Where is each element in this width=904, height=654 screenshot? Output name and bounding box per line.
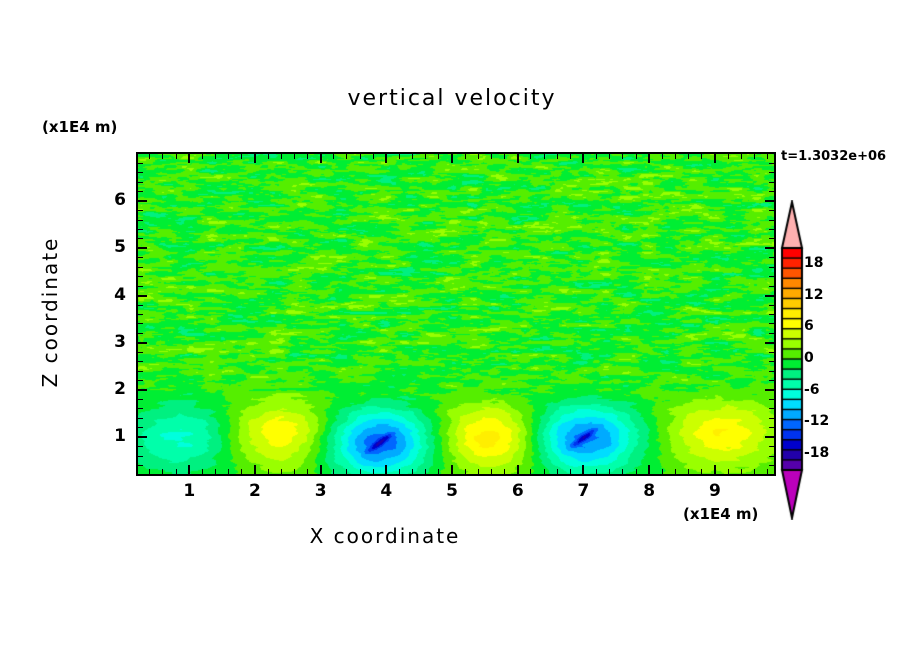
y-major-tick-right bbox=[765, 342, 774, 344]
x-minor-tick bbox=[570, 469, 571, 474]
x-minor-tick-top bbox=[162, 154, 163, 159]
x-minor-tick-top bbox=[609, 154, 610, 159]
x-minor-tick-top bbox=[741, 154, 742, 159]
y-minor-tick bbox=[138, 361, 143, 362]
x-minor-tick bbox=[741, 469, 742, 474]
y-minor-tick bbox=[138, 314, 143, 315]
contour-field-canvas bbox=[138, 154, 774, 474]
x-tick-label: 9 bbox=[700, 481, 730, 501]
x-major-tick-top bbox=[451, 154, 453, 163]
y-minor-tick bbox=[138, 276, 143, 277]
x-minor-tick bbox=[438, 469, 439, 474]
y-minor-tick-right bbox=[769, 456, 774, 457]
x-major-tick bbox=[385, 465, 387, 474]
x-minor-tick bbox=[544, 469, 545, 474]
y-major-tick bbox=[138, 436, 147, 438]
x-minor-tick-top bbox=[307, 154, 308, 159]
y-tick-label: 5 bbox=[98, 237, 126, 257]
y-minor-tick bbox=[138, 456, 143, 457]
x-minor-tick bbox=[268, 469, 269, 474]
y-minor-tick-right bbox=[769, 352, 774, 353]
x-minor-tick-top bbox=[425, 154, 426, 159]
x-minor-tick-top bbox=[557, 154, 558, 159]
y-minor-tick bbox=[138, 446, 143, 447]
x-minor-tick bbox=[675, 469, 676, 474]
y-minor-tick-right bbox=[769, 465, 774, 466]
y-tick-label: 6 bbox=[98, 190, 126, 210]
y-minor-tick bbox=[138, 257, 143, 258]
x-minor-tick bbox=[307, 469, 308, 474]
x-minor-tick-top bbox=[767, 154, 768, 159]
x-major-tick-top bbox=[320, 154, 322, 163]
x-major-tick-top bbox=[582, 154, 584, 163]
y-minor-tick bbox=[138, 408, 143, 409]
x-minor-tick-top bbox=[662, 154, 663, 159]
x-minor-tick bbox=[622, 469, 623, 474]
y-minor-tick bbox=[138, 333, 143, 334]
x-minor-tick bbox=[215, 469, 216, 474]
colorbar-tick-label: 18 bbox=[804, 255, 823, 271]
y-minor-tick bbox=[138, 182, 143, 183]
y-minor-tick-right bbox=[769, 371, 774, 372]
x-minor-tick bbox=[557, 469, 558, 474]
x-minor-tick-top bbox=[149, 154, 150, 159]
x-tick-label: 7 bbox=[568, 481, 598, 501]
time-annotation: t=1.3032e+06 bbox=[781, 149, 886, 164]
x-minor-tick bbox=[491, 469, 492, 474]
y-axis-title: Z coordinate bbox=[38, 202, 62, 422]
y-minor-tick bbox=[138, 229, 143, 230]
x-minor-tick bbox=[662, 469, 663, 474]
x-minor-tick bbox=[412, 469, 413, 474]
y-major-tick-right bbox=[765, 295, 774, 297]
x-major-tick-top bbox=[648, 154, 650, 163]
y-major-tick bbox=[138, 200, 147, 202]
x-minor-tick-top bbox=[176, 154, 177, 159]
x-tick-label: 2 bbox=[240, 481, 270, 501]
x-minor-tick bbox=[373, 469, 374, 474]
x-major-tick bbox=[714, 465, 716, 474]
y-minor-tick-right bbox=[769, 399, 774, 400]
x-minor-tick-top bbox=[438, 154, 439, 159]
x-minor-tick-top bbox=[478, 154, 479, 159]
y-minor-tick-right bbox=[769, 380, 774, 381]
x-major-tick bbox=[188, 465, 190, 474]
x-minor-tick-top bbox=[754, 154, 755, 159]
x-minor-tick-top bbox=[228, 154, 229, 159]
x-minor-tick-top bbox=[544, 154, 545, 159]
y-major-tick bbox=[138, 295, 147, 297]
y-minor-tick-right bbox=[769, 427, 774, 428]
x-minor-tick-top bbox=[728, 154, 729, 159]
y-minor-tick-right bbox=[769, 446, 774, 447]
y-minor-tick bbox=[138, 465, 143, 466]
x-minor-tick-top bbox=[465, 154, 466, 159]
x-minor-tick-top bbox=[346, 154, 347, 159]
x-major-tick bbox=[320, 465, 322, 474]
y-major-tick-right bbox=[765, 436, 774, 438]
x-minor-tick bbox=[767, 469, 768, 474]
colorbar-tick-label: -12 bbox=[804, 413, 829, 429]
x-tick-label: 3 bbox=[306, 481, 336, 501]
y-minor-tick-right bbox=[769, 418, 774, 419]
y-minor-tick-right bbox=[769, 238, 774, 239]
contour-plot-area bbox=[136, 152, 776, 476]
x-major-tick-top bbox=[254, 154, 256, 163]
y-tick-label: 1 bbox=[98, 426, 126, 446]
x-minor-tick bbox=[530, 469, 531, 474]
y-major-tick-right bbox=[765, 389, 774, 391]
y-minor-tick-right bbox=[769, 220, 774, 221]
colorbar-tick-label: 12 bbox=[804, 287, 823, 303]
y-tick-label: 4 bbox=[98, 285, 126, 305]
colorbar-tick-label: 6 bbox=[804, 318, 814, 334]
y-minor-tick-right bbox=[769, 163, 774, 164]
x-minor-tick bbox=[399, 469, 400, 474]
x-axis-unit-label: (x1E4 m) bbox=[683, 505, 758, 523]
x-minor-tick bbox=[202, 469, 203, 474]
y-minor-tick bbox=[138, 427, 143, 428]
x-minor-tick bbox=[465, 469, 466, 474]
x-minor-tick bbox=[596, 469, 597, 474]
y-minor-tick-right bbox=[769, 276, 774, 277]
x-minor-tick bbox=[425, 469, 426, 474]
x-minor-tick bbox=[228, 469, 229, 474]
x-major-tick bbox=[254, 465, 256, 474]
x-minor-tick-top bbox=[412, 154, 413, 159]
x-major-tick bbox=[648, 465, 650, 474]
y-major-tick bbox=[138, 247, 147, 249]
x-major-tick-top bbox=[188, 154, 190, 163]
x-minor-tick bbox=[241, 469, 242, 474]
y-minor-tick bbox=[138, 210, 143, 211]
x-minor-tick-top bbox=[636, 154, 637, 159]
x-tick-label: 1 bbox=[174, 481, 204, 501]
x-minor-tick-top bbox=[215, 154, 216, 159]
x-minor-tick-top bbox=[333, 154, 334, 159]
x-minor-tick-top bbox=[268, 154, 269, 159]
y-minor-tick-right bbox=[769, 210, 774, 211]
y-axis-unit-label: (x1E4 m) bbox=[42, 118, 117, 136]
x-minor-tick bbox=[478, 469, 479, 474]
y-minor-tick bbox=[138, 399, 143, 400]
y-minor-tick bbox=[138, 418, 143, 419]
x-minor-tick bbox=[346, 469, 347, 474]
x-minor-tick bbox=[360, 469, 361, 474]
x-tick-label: 4 bbox=[371, 481, 401, 501]
x-minor-tick bbox=[333, 469, 334, 474]
y-minor-tick bbox=[138, 191, 143, 192]
y-minor-tick-right bbox=[769, 361, 774, 362]
x-major-tick bbox=[451, 465, 453, 474]
colorbar-tick-label: 0 bbox=[804, 350, 814, 366]
x-axis-title: X coordinate bbox=[0, 524, 770, 548]
y-minor-tick bbox=[138, 220, 143, 221]
x-minor-tick bbox=[609, 469, 610, 474]
y-minor-tick-right bbox=[769, 333, 774, 334]
x-minor-tick bbox=[176, 469, 177, 474]
x-minor-tick-top bbox=[504, 154, 505, 159]
x-major-tick-top bbox=[714, 154, 716, 163]
x-minor-tick bbox=[504, 469, 505, 474]
y-minor-tick bbox=[138, 172, 143, 173]
y-minor-tick-right bbox=[769, 408, 774, 409]
y-minor-tick bbox=[138, 380, 143, 381]
x-major-tick bbox=[582, 465, 584, 474]
y-minor-tick-right bbox=[769, 314, 774, 315]
colorbar-tick-label: -18 bbox=[804, 445, 829, 461]
x-minor-tick-top bbox=[622, 154, 623, 159]
x-minor-tick-top bbox=[399, 154, 400, 159]
y-major-tick bbox=[138, 389, 147, 391]
x-minor-tick-top bbox=[241, 154, 242, 159]
y-minor-tick bbox=[138, 163, 143, 164]
y-minor-tick-right bbox=[769, 286, 774, 287]
x-minor-tick-top bbox=[360, 154, 361, 159]
y-tick-label: 2 bbox=[98, 379, 126, 399]
x-minor-tick bbox=[701, 469, 702, 474]
y-minor-tick-right bbox=[769, 305, 774, 306]
x-minor-tick-top bbox=[373, 154, 374, 159]
y-minor-tick bbox=[138, 286, 143, 287]
x-major-tick-top bbox=[517, 154, 519, 163]
x-minor-tick-top bbox=[701, 154, 702, 159]
x-minor-tick-top bbox=[675, 154, 676, 159]
x-major-tick-top bbox=[385, 154, 387, 163]
y-minor-tick bbox=[138, 323, 143, 324]
x-tick-label: 5 bbox=[437, 481, 467, 501]
x-minor-tick bbox=[281, 469, 282, 474]
y-minor-tick-right bbox=[769, 172, 774, 173]
y-major-tick-right bbox=[765, 247, 774, 249]
y-major-tick-right bbox=[765, 200, 774, 202]
x-minor-tick bbox=[688, 469, 689, 474]
x-tick-label: 8 bbox=[634, 481, 664, 501]
y-minor-tick bbox=[138, 305, 143, 306]
x-major-tick bbox=[517, 465, 519, 474]
x-minor-tick-top bbox=[202, 154, 203, 159]
y-minor-tick bbox=[138, 238, 143, 239]
x-minor-tick bbox=[728, 469, 729, 474]
x-minor-tick-top bbox=[530, 154, 531, 159]
x-minor-tick bbox=[162, 469, 163, 474]
y-minor-tick-right bbox=[769, 257, 774, 258]
x-minor-tick-top bbox=[491, 154, 492, 159]
x-minor-tick-top bbox=[570, 154, 571, 159]
y-minor-tick-right bbox=[769, 229, 774, 230]
colorbar-tick-label: -6 bbox=[804, 382, 820, 398]
x-minor-tick-top bbox=[688, 154, 689, 159]
y-minor-tick bbox=[138, 267, 143, 268]
x-minor-tick bbox=[149, 469, 150, 474]
y-minor-tick-right bbox=[769, 191, 774, 192]
y-minor-tick-right bbox=[769, 182, 774, 183]
x-tick-label: 6 bbox=[503, 481, 533, 501]
x-minor-tick bbox=[294, 469, 295, 474]
page-title: vertical velocity bbox=[0, 86, 904, 111]
colorbar: 181260-6-12-18 bbox=[778, 200, 818, 520]
y-major-tick bbox=[138, 342, 147, 344]
y-minor-tick bbox=[138, 371, 143, 372]
x-minor-tick-top bbox=[281, 154, 282, 159]
y-minor-tick-right bbox=[769, 323, 774, 324]
x-minor-tick bbox=[636, 469, 637, 474]
x-minor-tick-top bbox=[294, 154, 295, 159]
x-minor-tick-top bbox=[596, 154, 597, 159]
y-tick-label: 3 bbox=[98, 332, 126, 352]
x-minor-tick bbox=[754, 469, 755, 474]
y-minor-tick-right bbox=[769, 267, 774, 268]
y-minor-tick bbox=[138, 352, 143, 353]
